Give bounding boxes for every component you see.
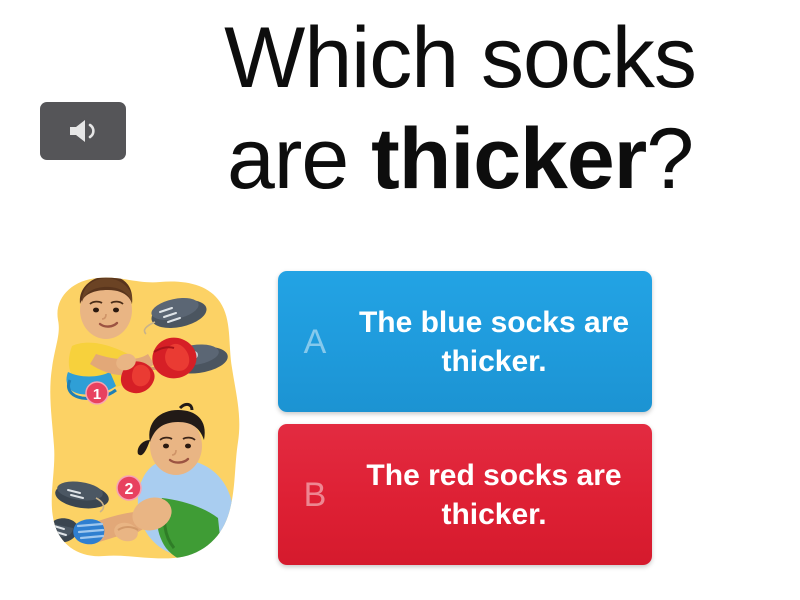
child-one-head: [80, 276, 132, 339]
answer-letter-a: A: [278, 325, 352, 359]
answer-option-b[interactable]: B The red socks are thicker.: [278, 424, 652, 565]
question-line-2-suffix: ?: [646, 111, 693, 207]
answer-option-a[interactable]: A The blue socks are thicker.: [278, 271, 652, 412]
illustration-badge-1: 1: [86, 382, 108, 404]
question-line-2: are thicker?: [227, 109, 693, 210]
speaker-icon: [66, 117, 100, 145]
child-two-blue-sock-left: [73, 519, 104, 544]
answer-text-a: The blue socks are thicker.: [352, 303, 652, 381]
svg-text:1: 1: [93, 386, 101, 403]
svg-text:2: 2: [125, 481, 134, 498]
question-title: Which socks are thicker?: [140, 8, 780, 236]
illustration-badge-2: 2: [117, 476, 141, 500]
answer-letter-b: B: [278, 478, 352, 512]
answer-text-b: The red socks are thicker.: [352, 456, 652, 534]
question-line-1: Which socks: [224, 8, 696, 109]
quiz-slide: Which socks are thicker?: [0, 0, 800, 600]
audio-play-button[interactable]: [40, 102, 126, 160]
question-emphasis-thicker: thicker: [371, 111, 646, 207]
question-line-2-prefix: are: [227, 111, 371, 207]
question-illustration: 1: [42, 268, 254, 564]
